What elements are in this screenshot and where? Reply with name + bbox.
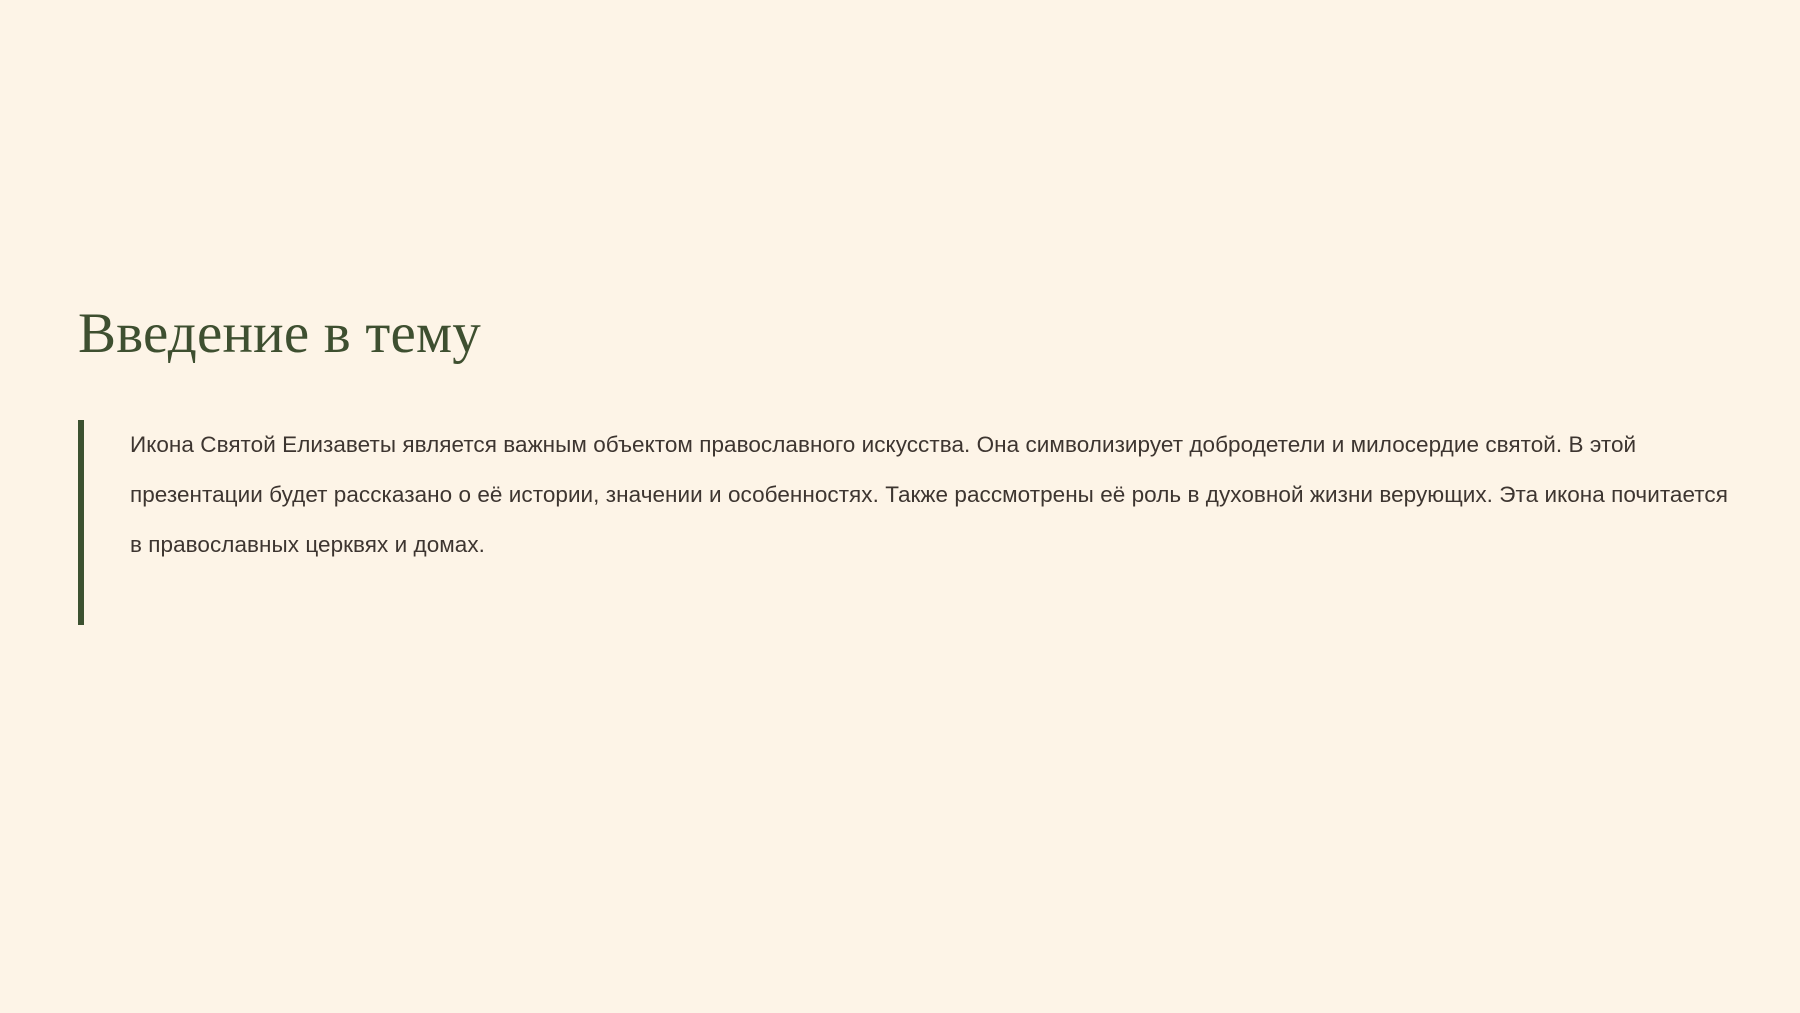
- page-title: Введение в тему: [78, 300, 1738, 367]
- body-paragraph: Икона Святой Елизаветы является важным о…: [130, 420, 1738, 570]
- slide-content-area: Введение в тему Икона Святой Елизаветы я…: [78, 300, 1738, 570]
- body-block: Икона Святой Елизаветы является важным о…: [78, 420, 1738, 570]
- accent-bar: [78, 420, 84, 625]
- presentation-slide: Введение в тему Икона Святой Елизаветы я…: [0, 0, 1800, 1013]
